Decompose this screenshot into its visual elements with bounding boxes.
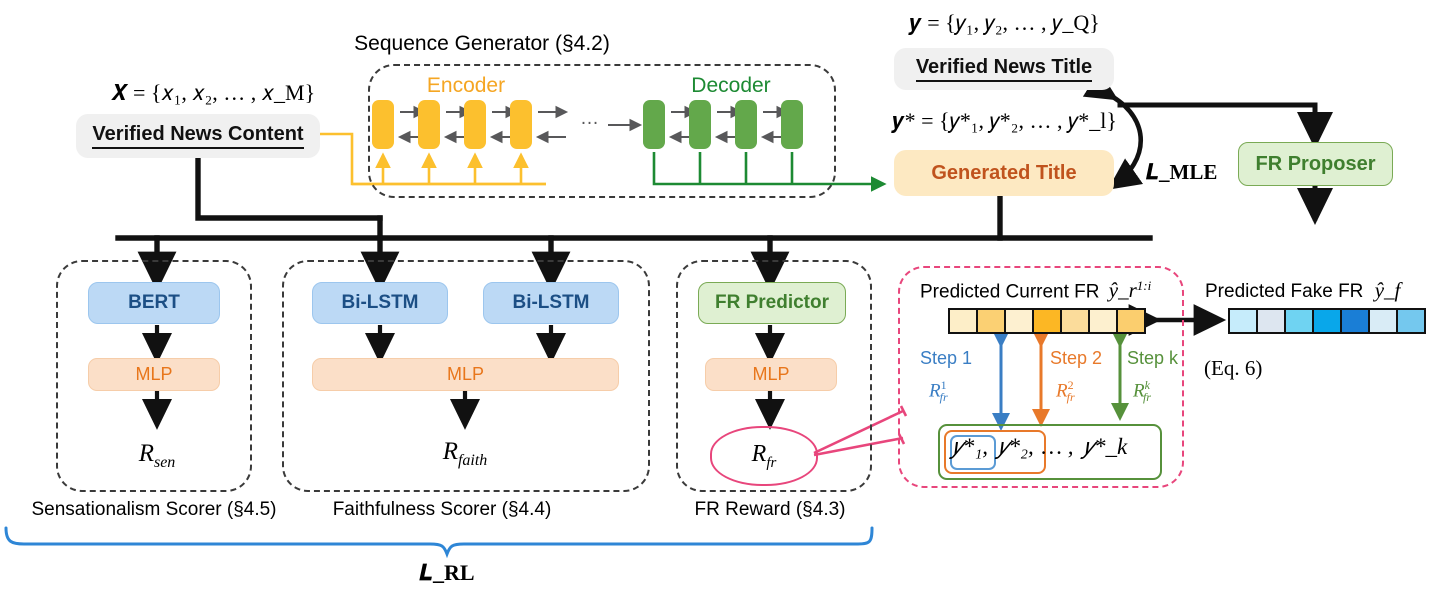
decoder-cell-1	[643, 100, 665, 149]
encoder-cell-3	[464, 100, 486, 149]
verified-news-content-label: Verified News Content	[92, 123, 303, 149]
current-fr-cell	[1062, 310, 1090, 332]
loss-rl-label: 𝑳_RL	[419, 560, 474, 586]
faithfulness-scorer-caption: Faithfulness Scorer (§4.4)	[333, 499, 552, 521]
mlp-label: MLP	[447, 364, 484, 385]
decoder-cell-4	[781, 100, 803, 149]
predicted-current-fr-label: Predicted Current FR ŷ_r1:i	[920, 278, 1151, 303]
step-k-label: Step k	[1127, 348, 1178, 369]
mlp-box-sensationalism[interactable]: MLP	[88, 358, 220, 391]
step-1-label: Step 1	[920, 348, 972, 369]
step-2-reward: R2fr	[1056, 378, 1075, 405]
output-ystar-set: 𝒚* = {𝑦*₁, 𝑦*₂, … , 𝑦*_l}	[891, 108, 1117, 134]
step-k-reward: Rkfr	[1133, 378, 1151, 405]
generated-title-box[interactable]: Generated Title	[894, 150, 1114, 196]
token-1: 𝑦*₁,	[952, 434, 988, 459]
encoder-decoder-ellipsis: …	[580, 108, 599, 130]
fr-predictor-label: FR Predictor	[715, 292, 829, 314]
token-2: 𝑦*₂,	[998, 434, 1034, 459]
current-fr-cell	[1034, 310, 1062, 332]
encoder-cell-4	[510, 100, 532, 149]
bert-label: BERT	[128, 292, 180, 314]
reward-rfr-ellipse: Rfr	[710, 426, 818, 486]
current-fr-cell	[950, 310, 978, 332]
step-2-label: Step 2	[1050, 348, 1102, 369]
mle-bracket	[1113, 97, 1141, 186]
mlp-box-fr[interactable]: MLP	[705, 358, 837, 391]
predicted-fake-fr-label: Predicted Fake FR ŷ_f	[1205, 278, 1400, 303]
output-y-set: 𝒚 = {𝑦₁, 𝑦₂, … , 𝑦_Q}	[908, 10, 1100, 36]
bi-lstm-label-2: Bi-LSTM	[512, 292, 589, 314]
token-sequence-label: 𝑦*₁, 𝑦*₂, … , 𝑦*_k	[952, 434, 1127, 460]
step-1-reward: R1fr	[929, 378, 948, 405]
fake-fr-cell	[1258, 310, 1286, 332]
decoder-label: Decoder	[691, 74, 770, 98]
fake-fr-cell	[1314, 310, 1342, 332]
decoder-cell-3	[735, 100, 757, 149]
current-fr-cell	[1006, 310, 1034, 332]
verified-news-title-box[interactable]: Verified News Title	[894, 48, 1114, 90]
encoder-label: Encoder	[427, 74, 505, 98]
fr-predictor-box[interactable]: FR Predictor	[698, 282, 846, 324]
verified-news-title-label: Verified News Title	[916, 56, 1092, 82]
fake-fr-heatmap	[1228, 308, 1426, 334]
sensationalism-scorer-caption: Sensationalism Scorer (§4.5)	[32, 499, 277, 521]
generated-title-label: Generated Title	[931, 162, 1076, 185]
fake-fr-symbol: ŷ_f	[1369, 278, 1401, 302]
bert-box[interactable]: BERT	[88, 282, 220, 324]
token-ellipsis: … ,	[1042, 434, 1074, 459]
encoder-cell-1	[372, 100, 394, 149]
current-fr-superscript: 1:i	[1137, 278, 1151, 293]
current-fr-cell	[978, 310, 1006, 332]
current-fr-cell	[1090, 310, 1118, 332]
bi-lstm-label-1: Bi-LSTM	[341, 292, 418, 314]
token-k: 𝑦*_k	[1083, 434, 1127, 459]
reward-rfr-label: Rfr	[752, 441, 777, 472]
fake-fr-cell	[1370, 310, 1398, 332]
current-fr-cell	[1118, 310, 1144, 332]
reward-rsen: Rsen	[139, 440, 176, 472]
fake-fr-cell	[1286, 310, 1314, 332]
fake-fr-cell	[1342, 310, 1370, 332]
fake-fr-cell	[1398, 310, 1424, 332]
bi-lstm-box-1[interactable]: Bi-LSTM	[312, 282, 448, 324]
mlp-box-faithfulness[interactable]: MLP	[312, 358, 619, 391]
verified-news-content-box[interactable]: Verified News Content	[76, 114, 320, 158]
fr-proposer-label: FR Proposer	[1255, 153, 1375, 176]
decoder-cell-2	[689, 100, 711, 149]
fake-fr-cell	[1230, 310, 1258, 332]
reward-rfaith: Rfaith	[443, 438, 488, 470]
bi-lstm-box-2[interactable]: Bi-LSTM	[483, 282, 619, 324]
mlp-label: MLP	[752, 364, 789, 385]
fr-proposer-box[interactable]: FR Proposer	[1238, 142, 1393, 186]
current-fr-heatmap	[948, 308, 1146, 334]
diagram-canvas: Sequence Generator (§4.2) Encoder Decode…	[0, 0, 1432, 592]
predicted-current-fr-text: Predicted Current FR	[920, 281, 1100, 302]
equation-reference: (Eq. 6)	[1204, 356, 1262, 381]
input-x-set: 𝑿 = {𝑥₁, 𝑥₂, … , 𝑥_M}	[111, 80, 315, 106]
encoder-cell-2	[418, 100, 440, 149]
fr-reward-caption: FR Reward (§4.3)	[695, 499, 846, 521]
mlp-label: MLP	[135, 364, 172, 385]
loss-mle-label: 𝑳_MLE	[1146, 160, 1217, 185]
lrl-brace	[6, 528, 872, 554]
predicted-fake-fr-text: Predicted Fake FR	[1205, 281, 1363, 302]
sequence-generator-caption: Sequence Generator (§4.2)	[354, 32, 610, 56]
current-fr-symbol: ŷ_r	[1105, 278, 1137, 302]
